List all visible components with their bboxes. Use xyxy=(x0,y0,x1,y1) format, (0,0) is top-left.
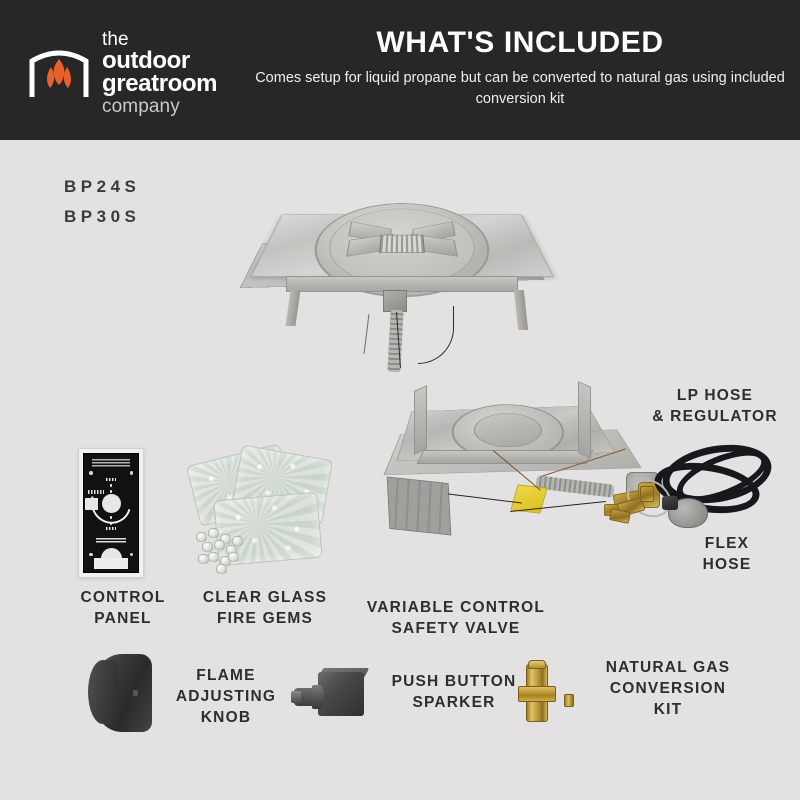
model-code-list: BP24S BP30S xyxy=(64,172,140,232)
panel-push-to-ignite-text xyxy=(96,538,126,544)
label-safety-valve-line2: SAFETY VALVE xyxy=(348,619,564,640)
label-safety-valve-line1: VARIABLE CONTROL xyxy=(348,598,564,619)
square-burner-pan-image xyxy=(248,178,558,373)
logo-line-greatroom: greatroom xyxy=(102,72,217,96)
burner-pan-surface xyxy=(250,214,554,276)
assembly-wall-right xyxy=(578,381,591,459)
push-button-sparker-image xyxy=(292,668,370,726)
label-conversion-kit-line2: CONVERSION xyxy=(588,679,748,700)
pan-leg-right xyxy=(514,290,528,330)
lp-hose-regulator-image xyxy=(640,440,790,540)
control-panel-warning-text xyxy=(92,459,130,468)
page-subtitle: Comes setup for liquid propane but can b… xyxy=(250,68,790,110)
panel-lo-label xyxy=(106,527,116,530)
label-flex-hose-line1: FLEX xyxy=(668,534,786,555)
brass-orifice-small xyxy=(564,694,574,707)
label-flame-knob-line2: ADJUSTING xyxy=(164,687,288,708)
flame-adjusting-knob-image xyxy=(86,652,160,736)
label-conversion-kit-line1: NATURAL GAS xyxy=(588,658,748,679)
control-panel-face xyxy=(83,453,139,573)
label-safety-valve: VARIABLE CONTROL SAFETY VALVE xyxy=(348,598,564,640)
regulator-brass-fitting-3 xyxy=(640,486,654,502)
header-banner: the outdoor greatroom company WHAT'S INC… xyxy=(0,0,800,140)
corrugated-gas-line xyxy=(535,475,614,497)
label-sparker-line2: SPARKER xyxy=(378,693,530,714)
fire-gems-image xyxy=(186,444,334,584)
panel-flame-label xyxy=(88,490,104,494)
model-code-bp30s: BP30S xyxy=(64,202,140,232)
panel-screw-top-right xyxy=(130,471,134,475)
panel-dot-4 xyxy=(110,522,113,525)
label-lp-hose-line1: LP HOSE xyxy=(636,386,794,407)
assembly-wall-left xyxy=(414,385,427,455)
control-panel-image xyxy=(78,448,144,578)
brand-logo: the outdoor greatroom company xyxy=(28,28,217,116)
sparker-nut xyxy=(312,685,322,709)
flex-gas-line xyxy=(387,310,403,373)
label-conversion-kit: NATURAL GAS CONVERSION KIT xyxy=(588,658,748,721)
pan-leg-left xyxy=(285,290,300,326)
panel-screw-bottom-right xyxy=(130,553,134,557)
logo-line-company: company xyxy=(102,97,217,116)
label-fire-gems-line1: CLEAR GLASS xyxy=(180,588,350,609)
assembly-wire-a xyxy=(448,493,522,503)
brand-logo-text: the outdoor greatroom company xyxy=(102,28,217,116)
sparker-button-tip xyxy=(291,691,301,703)
label-fire-gems: CLEAR GLASS FIRE GEMS xyxy=(180,588,350,630)
panel-screw-bottom-left xyxy=(89,553,93,557)
knob-notch xyxy=(133,690,138,696)
thermocouple-wire xyxy=(364,314,370,354)
knob-face xyxy=(88,660,118,724)
label-conversion-kit-line3: KIT xyxy=(588,700,748,721)
loose-glass-gems xyxy=(194,526,264,574)
brass-fitting-cap xyxy=(528,660,546,669)
label-fire-gems-line2: FIRE GEMS xyxy=(180,609,350,630)
gas-connection-box xyxy=(383,290,407,312)
panel-dot-1 xyxy=(110,484,113,487)
label-flex-hose-line2: HOSE xyxy=(668,555,786,576)
label-control-panel-line1: CONTROL xyxy=(48,588,198,609)
panel-side-tag xyxy=(85,498,98,510)
regulator-nut xyxy=(662,496,678,510)
panel-dot-3 xyxy=(110,516,113,519)
ignition-wire-loop xyxy=(418,306,454,364)
label-lp-hose-line2: & REGULATOR xyxy=(636,407,794,428)
panel-dot-2 xyxy=(110,490,113,493)
panel-brand-plate xyxy=(94,558,128,569)
label-flame-knob: FLAME ADJUSTING KNOB xyxy=(164,666,288,729)
valve-knob-hole xyxy=(102,494,121,513)
panel-hi-label xyxy=(106,478,116,481)
label-control-panel-line2: PANEL xyxy=(48,609,198,630)
page-title: WHAT'S INCLUDED xyxy=(260,26,780,60)
label-flame-knob-line1: FLAME xyxy=(164,666,288,687)
burner-port-block xyxy=(379,235,425,253)
label-control-panel: CONTROL PANEL xyxy=(48,588,198,630)
sparker-housing xyxy=(318,672,364,716)
fireplace-flame-logo-icon xyxy=(28,41,90,103)
model-code-bp24s: BP24S xyxy=(64,172,140,202)
label-flame-knob-line3: KNOB xyxy=(164,708,288,729)
label-push-button-sparker: PUSH BUTTON SPARKER xyxy=(378,672,530,714)
label-lp-hose-regulator: LP HOSE & REGULATOR xyxy=(636,386,794,428)
label-flex-hose: FLEX HOSE xyxy=(668,534,786,576)
burner-cover-plate xyxy=(387,477,452,536)
label-sparker-line1: PUSH BUTTON xyxy=(378,672,530,693)
panel-screw-top-left xyxy=(89,471,93,475)
